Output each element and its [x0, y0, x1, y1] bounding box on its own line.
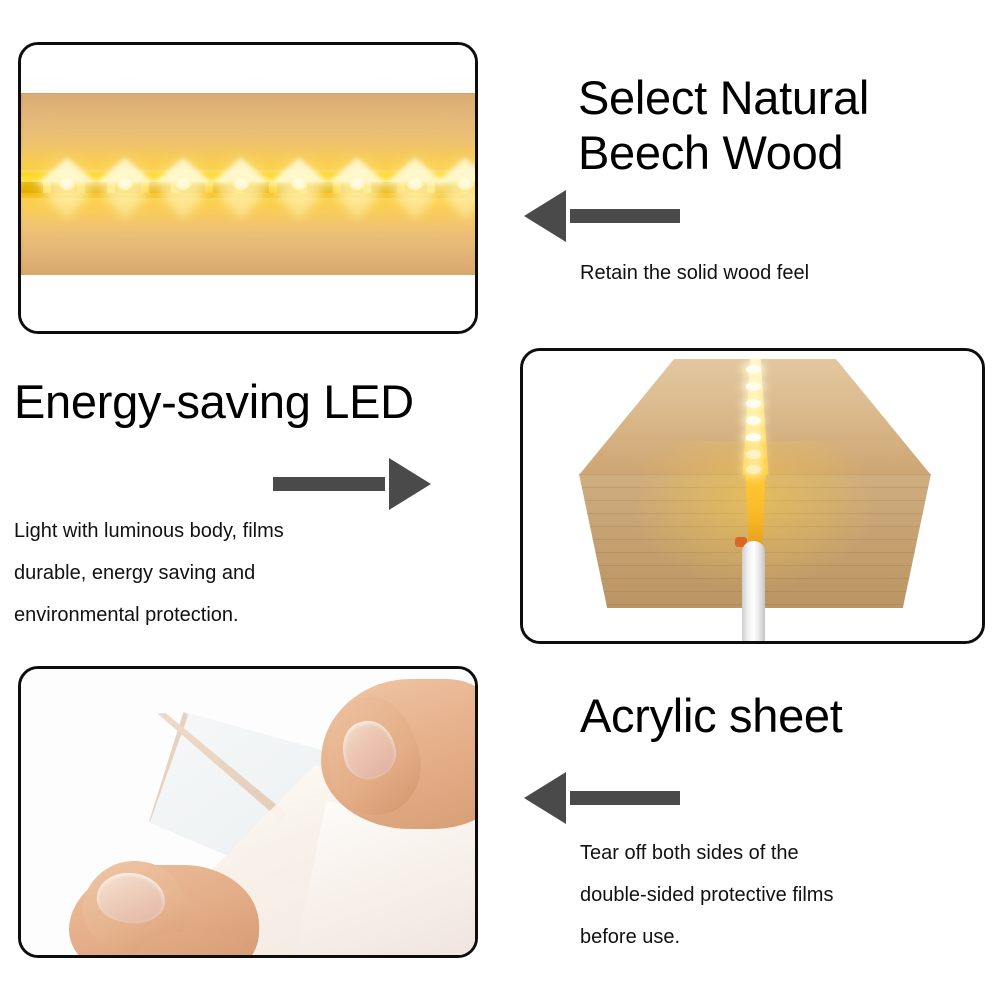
led-point-light [746, 365, 761, 374]
led-flare-up-icon [95, 158, 155, 184]
led-flare-up-icon [211, 158, 271, 184]
section-caption-energy-saving-led: Light with luminous body, films durable,… [14, 510, 284, 636]
led-point-light [115, 176, 135, 192]
section-caption-beech-wood: Retain the solid wood feel [580, 252, 809, 294]
led-flare-down-icon [37, 184, 97, 220]
acrylic-sheet-photo-panel [18, 666, 478, 958]
led-flare-up-icon [37, 158, 97, 184]
arrow-bar [570, 209, 680, 223]
led-flare-up-icon [153, 158, 213, 184]
led-point-light [746, 399, 761, 408]
led-strip-photo-panel [18, 42, 478, 334]
led-point-light [746, 465, 761, 474]
beech-plank-surface [21, 93, 475, 275]
arrow-bar [273, 477, 385, 491]
arrow-right-icon-led [273, 458, 431, 510]
led-flare-down-icon [95, 184, 155, 220]
arrow-bar [570, 791, 680, 805]
led-point-light [57, 176, 77, 192]
led-flare-down-icon [327, 184, 387, 220]
arrow-left-icon-acrylic [524, 772, 680, 824]
led-flare-down-icon [269, 184, 329, 220]
section-title-beech-wood: Select Natural Beech Wood [578, 70, 869, 180]
beech-block-photo-panel [520, 348, 985, 644]
led-flare-up-icon [435, 158, 478, 184]
led-flare-down-icon [153, 184, 213, 220]
led-point-light [746, 450, 761, 459]
photo-top-margin [21, 45, 475, 93]
arrow-head [524, 190, 566, 242]
led-point-light [746, 382, 761, 391]
section-caption-acrylic-sheet: Tear off both sides of the double-sided … [580, 832, 833, 958]
arrow-head [524, 772, 566, 824]
led-point-light [405, 176, 425, 192]
led-point-light [455, 176, 475, 192]
led-point-light [347, 176, 367, 192]
led-point-light [231, 176, 251, 192]
section-title-energy-saving-led: Energy-saving LED [14, 374, 414, 429]
photo-bottom-margin [21, 275, 475, 331]
led-flare-up-icon [327, 158, 387, 184]
section-title-acrylic-sheet: Acrylic sheet [580, 688, 843, 743]
led-point-light [173, 176, 193, 192]
power-cable [742, 541, 765, 643]
infographic-canvas: Select Natural Beech Wood Retain the sol… [0, 0, 1000, 1000]
led-point-light [746, 416, 761, 425]
led-point-light [289, 176, 309, 192]
led-flare-down-icon [435, 184, 478, 220]
led-flare-up-icon [269, 158, 329, 184]
led-flare-down-icon [211, 184, 271, 220]
arrow-head [389, 458, 431, 510]
arrow-left-icon-beech [524, 190, 680, 242]
led-point-light [746, 433, 761, 442]
